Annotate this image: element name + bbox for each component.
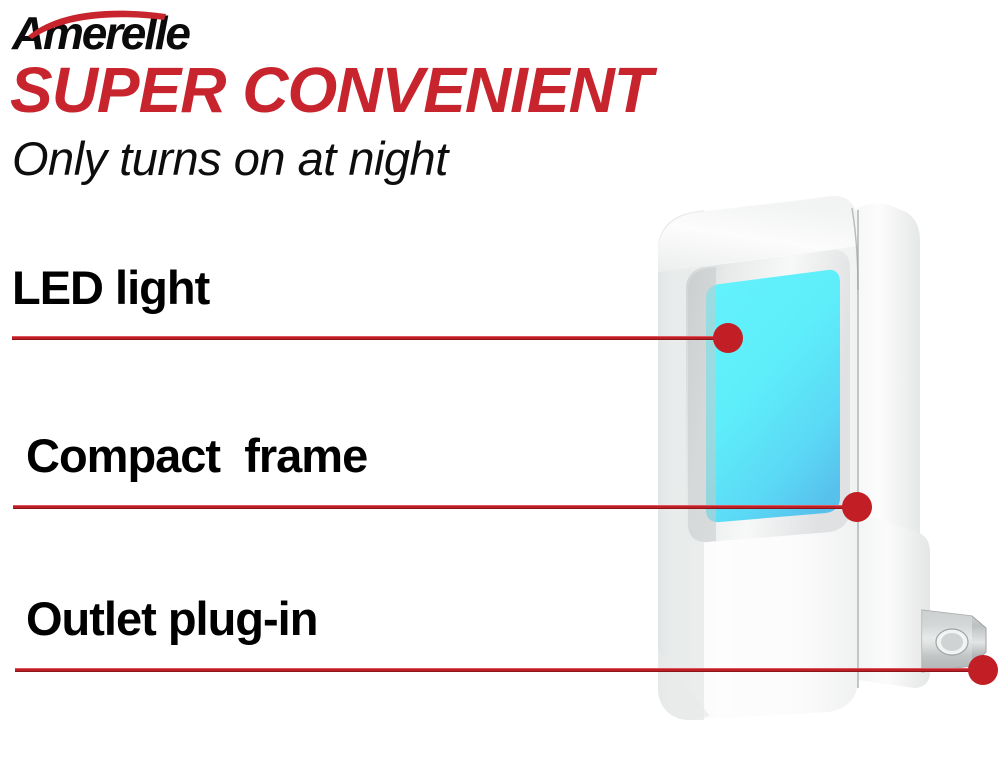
product-plug-housing: [858, 512, 930, 688]
leader-line-led-light: [12, 336, 730, 340]
page-headline: SUPER CONVENIENT: [10, 55, 652, 125]
product-illustration: [600, 180, 1000, 760]
leader-dot-led-light: [713, 323, 743, 353]
leader-line-outlet-plug-in: [15, 668, 985, 672]
leader-dot-compact-frame: [842, 492, 872, 522]
product-bezel-highlight: [688, 267, 716, 542]
feature-label-led-light: LED light: [12, 262, 209, 314]
leader-line-compact-frame: [13, 505, 859, 509]
feature-label-compact-frame: Compact frame: [26, 430, 367, 482]
brand-logo-text: Amerelle: [12, 8, 189, 58]
infographic-canvas: Amerelle SUPER CONVENIENT Only turns on …: [0, 0, 1000, 777]
product-led-panel: [706, 270, 840, 522]
leader-dot-outlet-plug-in: [968, 655, 998, 685]
brand-logo: Amerelle: [12, 6, 272, 60]
page-subheadline: Only turns on at night: [12, 132, 448, 186]
feature-label-outlet-plug-in: Outlet plug-in: [26, 593, 317, 645]
product-image-night-light: [600, 180, 1000, 760]
